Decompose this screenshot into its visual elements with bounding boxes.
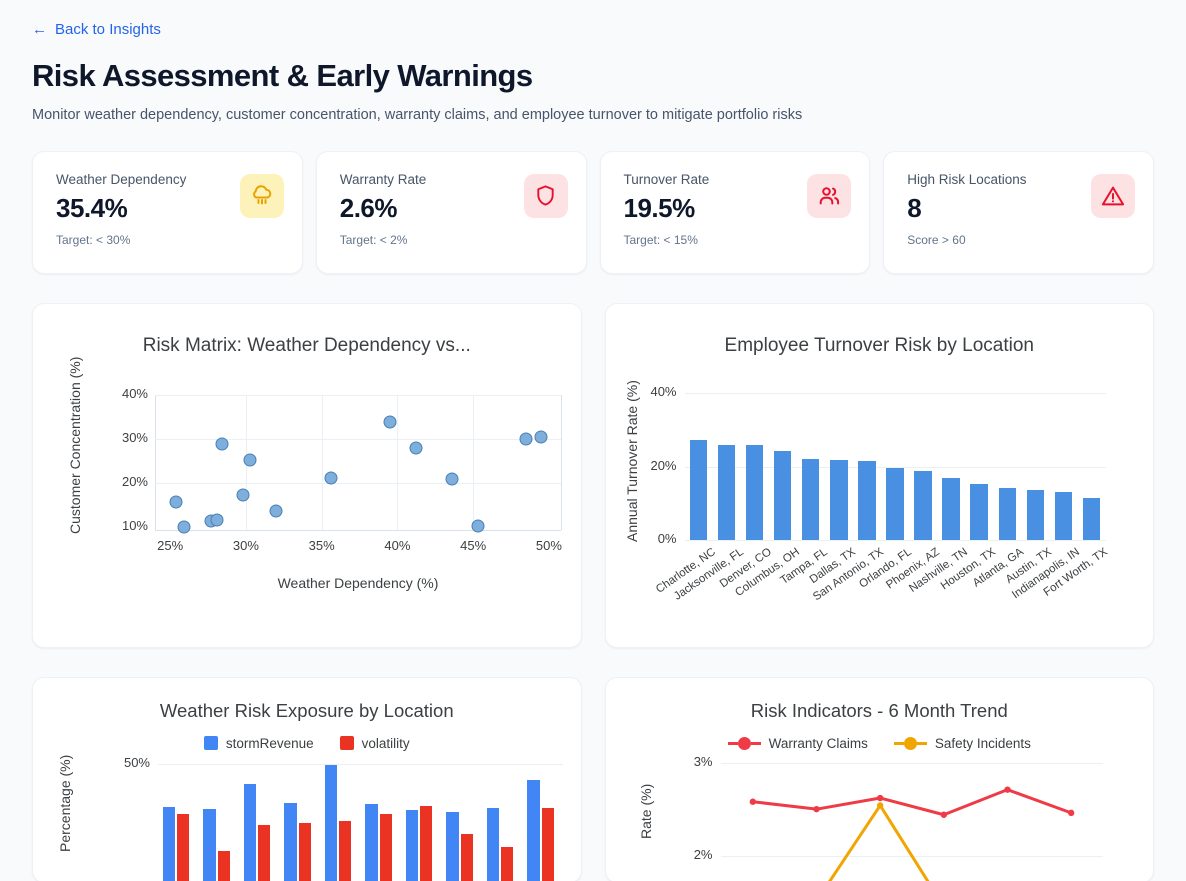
back-to-insights-label: Back to Insights (55, 22, 161, 37)
gridline-horizontal (155, 483, 561, 484)
users-icon (807, 174, 851, 218)
scatter-point (383, 416, 396, 429)
chart-card-weather-risk-exposure: Weather Risk Exposure by Location stormR… (32, 677, 582, 881)
kpi-card-weather-dependency[interactable]: Weather Dependency 35.4% Target: < 30% (32, 151, 303, 274)
x-axis-title: Weather Dependency (%) (155, 575, 561, 591)
kpi-label: High Risk Locations (907, 172, 1026, 188)
shield-icon (524, 174, 568, 218)
chart-card-turnover-by-location: Employee Turnover Risk by Location 0%20%… (605, 303, 1155, 648)
bar (1083, 498, 1100, 540)
kpi-text-group: Warranty Rate 2.6% Target: < 2% (340, 172, 427, 247)
scatter-point (520, 433, 533, 446)
bar (299, 823, 311, 881)
bar (886, 468, 903, 540)
kpi-card-high-risk-locations[interactable]: High Risk Locations 8 Score > 60 (883, 151, 1154, 274)
risk-assessment-page: ← Back to Insights Risk Assessment & Ear… (0, 0, 1186, 881)
bar (527, 780, 539, 881)
bar (746, 445, 763, 540)
bar (163, 807, 175, 881)
y-tick-label: 50% (100, 755, 150, 770)
kpi-value: 2.6% (340, 194, 427, 224)
legend-item-volatility[interactable]: volatility (340, 736, 410, 751)
chart-card-risk-matrix: Risk Matrix: Weather Dependency vs... 10… (32, 303, 582, 648)
bar (802, 459, 819, 541)
trend-point (876, 802, 882, 808)
bar (1027, 490, 1044, 540)
kpi-text-group: Turnover Rate 19.5% Target: < 15% (624, 172, 710, 247)
gridline-horizontal (685, 393, 1106, 394)
y-tick-label: 10% (93, 518, 148, 533)
gridline-vertical (397, 395, 398, 530)
legend-label: Warranty Claims (769, 736, 868, 751)
legend-line-icon (728, 737, 761, 750)
bar (999, 488, 1016, 540)
trend-line (752, 789, 1070, 814)
bar (830, 460, 847, 540)
bar (487, 808, 499, 881)
scatter-point (409, 441, 422, 454)
trend-point (813, 806, 819, 812)
bar (244, 784, 256, 881)
bar (406, 810, 418, 881)
bar (970, 484, 987, 540)
trend-lines (606, 751, 1151, 881)
kpi-label: Weather Dependency (56, 172, 186, 188)
chart-row-bottom: Weather Risk Exposure by Location stormR… (32, 677, 1154, 881)
alert-triangle-icon (1091, 174, 1135, 218)
kpi-card-row: Weather Dependency 35.4% Target: < 30% W… (32, 151, 1154, 274)
y-axis-line (155, 395, 156, 530)
scatter-point (471, 520, 484, 533)
chart-card-risk-indicators-trend: Risk Indicators - 6 Month Trend Warranty… (605, 677, 1155, 881)
bar (774, 451, 791, 541)
scatter-point (236, 488, 249, 501)
x-tick-label: 25% (144, 538, 196, 553)
bar (446, 812, 458, 881)
bar (718, 445, 735, 541)
bar (339, 821, 351, 881)
bar (542, 808, 554, 881)
trend-point (1004, 786, 1010, 792)
weather-exposure-bar-plot: 50%Percentage (%) (33, 751, 581, 839)
trend-line (752, 805, 1070, 881)
bar (461, 834, 473, 881)
chart-legend: stormRevenue volatility (33, 736, 581, 751)
y-axis-title: Annual Turnover Rate (%) (624, 381, 640, 543)
chart-title: Risk Matrix: Weather Dependency vs... (33, 304, 581, 358)
kpi-value: 19.5% (624, 194, 710, 224)
legend-line-icon (894, 737, 927, 750)
legend-item-warranty-claims[interactable]: Warranty Claims (728, 736, 868, 751)
risk-trend-line-plot: 2%3%Rate (%) (606, 751, 1154, 839)
bar (284, 803, 296, 881)
legend-label: stormRevenue (226, 736, 314, 751)
x-axis-line (155, 530, 561, 531)
scatter-point (244, 454, 257, 467)
kpi-target: Target: < 2% (340, 233, 427, 247)
arrow-left-icon: ← (32, 22, 47, 37)
page-subtitle: Monitor weather dependency, customer con… (32, 106, 1154, 125)
trend-point (876, 795, 882, 801)
gridline-vertical (322, 395, 323, 530)
scatter-point (170, 496, 183, 509)
y-tick-label: 20% (93, 474, 148, 489)
kpi-text-group: Weather Dependency 35.4% Target: < 30% (56, 172, 186, 247)
bar (1055, 492, 1072, 541)
kpi-target: Target: < 30% (56, 233, 186, 247)
risk-matrix-scatter-plot: 10%20%30%40%25%30%35%40%45%50%Customer C… (33, 357, 581, 617)
legend-item-safety-incidents[interactable]: Safety Incidents (894, 736, 1031, 751)
legend-swatch-icon (204, 736, 218, 750)
page-title: Risk Assessment & Early Warnings (32, 59, 1154, 94)
y-axis-title: Rate (%) (638, 784, 654, 839)
y-tick-label: 30% (93, 430, 148, 445)
gridline-vertical (473, 395, 474, 530)
gridline-horizontal (685, 540, 1106, 541)
legend-item-storm-revenue[interactable]: stormRevenue (204, 736, 314, 751)
kpi-card-turnover-rate[interactable]: Turnover Rate 19.5% Target: < 15% (600, 151, 871, 274)
x-tick-label: 35% (296, 538, 348, 553)
trend-point (1067, 809, 1073, 815)
legend-label: Safety Incidents (935, 736, 1031, 751)
scatter-point (445, 472, 458, 485)
cloud-rain-icon (240, 174, 284, 218)
x-tick-label: 30% (220, 538, 272, 553)
kpi-label: Warranty Rate (340, 172, 427, 188)
x-tick-label: 50% (523, 538, 575, 553)
bar (258, 825, 270, 881)
bar (690, 440, 707, 541)
scatter-point (535, 431, 548, 444)
chart-title: Risk Indicators - 6 Month Trend (606, 678, 1154, 722)
trend-point (749, 798, 755, 804)
bar (858, 461, 875, 540)
kpi-card-warranty-rate[interactable]: Warranty Rate 2.6% Target: < 2% (316, 151, 587, 274)
bar (942, 478, 959, 540)
bar (325, 765, 337, 881)
y-tick-label: 40% (93, 386, 148, 401)
kpi-label: Turnover Rate (624, 172, 710, 188)
scatter-point (215, 438, 228, 451)
scatter-point (177, 520, 190, 533)
back-to-insights-link[interactable]: ← Back to Insights (32, 22, 161, 37)
scatter-point (211, 513, 224, 526)
x-tick-label: 45% (447, 538, 499, 553)
legend-label: volatility (362, 736, 410, 751)
gridline-horizontal (158, 764, 563, 765)
x-tick-label: 40% (371, 538, 423, 553)
chart-legend: Warranty Claims Safety Incidents (606, 736, 1154, 751)
chart-title: Weather Risk Exposure by Location (33, 678, 581, 722)
bar (177, 814, 189, 881)
chart-row-top: Risk Matrix: Weather Dependency vs... 10… (32, 303, 1154, 648)
scatter-point (270, 505, 283, 518)
trend-point (940, 811, 946, 817)
bar (380, 814, 392, 881)
bar (914, 471, 931, 541)
kpi-target: Target: < 15% (624, 233, 710, 247)
scatter-point (324, 471, 337, 484)
y-axis-title: Percentage (%) (57, 754, 73, 851)
bar (218, 851, 230, 881)
bar (365, 804, 377, 881)
kpi-target: Score > 60 (907, 233, 1026, 247)
bar (203, 809, 215, 881)
kpi-value: 8 (907, 194, 1026, 224)
bar (420, 806, 432, 881)
gridline-horizontal (155, 395, 561, 396)
kpi-text-group: High Risk Locations 8 Score > 60 (907, 172, 1026, 247)
y-axis-title: Customer Concentration (%) (67, 357, 83, 534)
plot-right-border (561, 395, 562, 530)
chart-title: Employee Turnover Risk by Location (606, 304, 1154, 358)
kpi-value: 35.4% (56, 194, 186, 224)
bar (501, 847, 513, 881)
turnover-bar-plot: 0%20%40%Charlotte, NCJacksonville, FLDen… (606, 357, 1154, 617)
legend-swatch-icon (340, 736, 354, 750)
